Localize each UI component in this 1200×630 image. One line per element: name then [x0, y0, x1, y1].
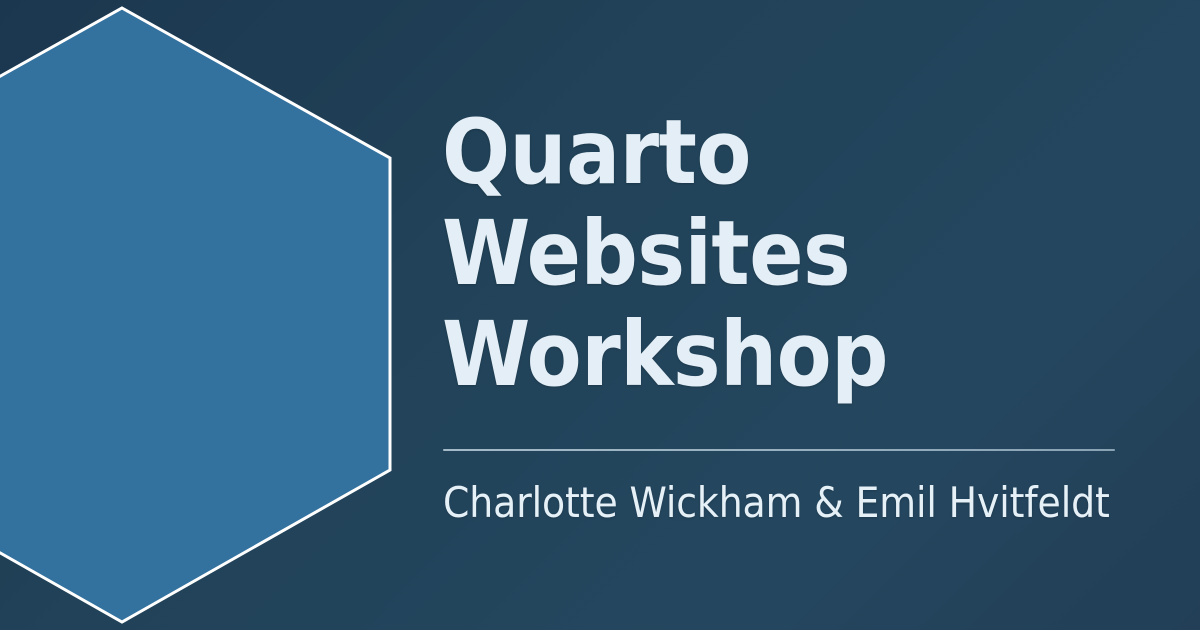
title-line-2: Workshop — [442, 302, 888, 406]
author-subtitle: Charlotte Wickham & Emil Hvitfeldt — [443, 478, 1110, 528]
page-title: Quarto WebsitesWorkshop — [442, 102, 1116, 405]
title-divider — [443, 449, 1115, 451]
title-slide: Quarto WebsitesWorkshop Charlotte Wickha… — [0, 0, 1200, 630]
hexagon-icon — [0, 8, 390, 622]
title-line-1: Quarto Websites — [442, 100, 850, 305]
slide-content: Quarto WebsitesWorkshop Charlotte Wickha… — [442, 0, 1116, 630]
